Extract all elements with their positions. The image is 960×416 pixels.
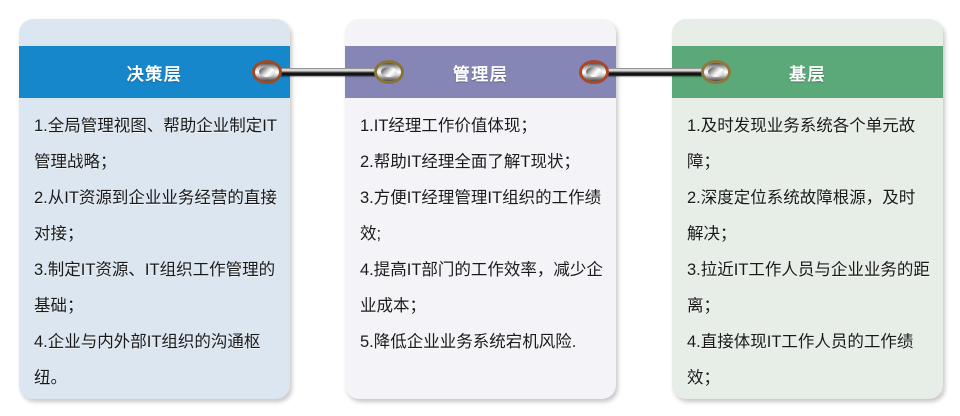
card-body-decision-layer: 1.全局管理视图、帮助企业制定IT管理战略； 2.从IT资源到企业业务经营的直接… — [19, 98, 290, 396]
list-item: 4.提高IT部门的工作效率，减少企业成本； — [360, 252, 603, 324]
card-header-base-layer: 基层 — [672, 46, 943, 98]
diagram-canvas: 决策层 1.全局管理视图、帮助企业制定IT管理战略； 2.从IT资源到企业业务经… — [0, 0, 960, 416]
card-management-layer[interactable]: 管理层 1.IT经理工作价值体现； 2.帮助IT经理全面了解T现状； 3.方便I… — [345, 19, 616, 399]
card-title-decision-layer: 决策层 — [127, 60, 183, 85]
card-body-management-layer: 1.IT经理工作价值体现； 2.帮助IT经理全面了解T现状； 3.方便IT经理管… — [345, 98, 616, 360]
card-base-layer[interactable]: 基层 1.及时发现业务系统各个单元故障； 2.深度定位系统故障根源，及时解决； … — [672, 19, 943, 399]
card-header-management-layer: 管理层 — [345, 46, 616, 98]
card-title-base-layer: 基层 — [789, 60, 826, 85]
list-item: 2.帮助IT经理全面了解T现状； — [360, 144, 603, 180]
list-item: 2.深度定位系统故障根源，及时解决； — [687, 180, 930, 252]
list-item: 5.帮助从IT的角度提高促进业务高效稳定。 — [687, 396, 930, 399]
card-header-decision-layer: 决策层 — [19, 46, 290, 98]
card-body-base-layer: 1.及时发现业务系统各个单元故障； 2.深度定位系统故障根源，及时解决； 3.拉… — [672, 98, 943, 399]
list-item: 3.制定IT资源、IT组织工作管理的基础； — [34, 252, 277, 324]
list-item: 3.方便IT经理管理IT组织的工作绩效; — [360, 180, 603, 252]
card-decision-layer[interactable]: 决策层 1.全局管理视图、帮助企业制定IT管理战略； 2.从IT资源到企业业务经… — [19, 19, 290, 399]
list-item: 1.IT经理工作价值体现； — [360, 108, 603, 144]
list-item: 4.企业与内外部IT组织的沟通枢纽。 — [34, 324, 277, 396]
card-title-management-layer: 管理层 — [453, 60, 509, 85]
list-item: 4.直接体现IT工作人员的工作绩效； — [687, 324, 930, 396]
list-item: 3.拉近IT工作人员与企业业务的距离； — [687, 252, 930, 324]
list-item: 5.降低企业业务系统宕机风险. — [360, 324, 603, 360]
list-item: 2.从IT资源到企业业务经营的直接对接； — [34, 180, 277, 252]
list-item: 1.及时发现业务系统各个单元故障； — [687, 108, 930, 180]
list-item: 1.全局管理视图、帮助企业制定IT管理战略； — [34, 108, 277, 180]
